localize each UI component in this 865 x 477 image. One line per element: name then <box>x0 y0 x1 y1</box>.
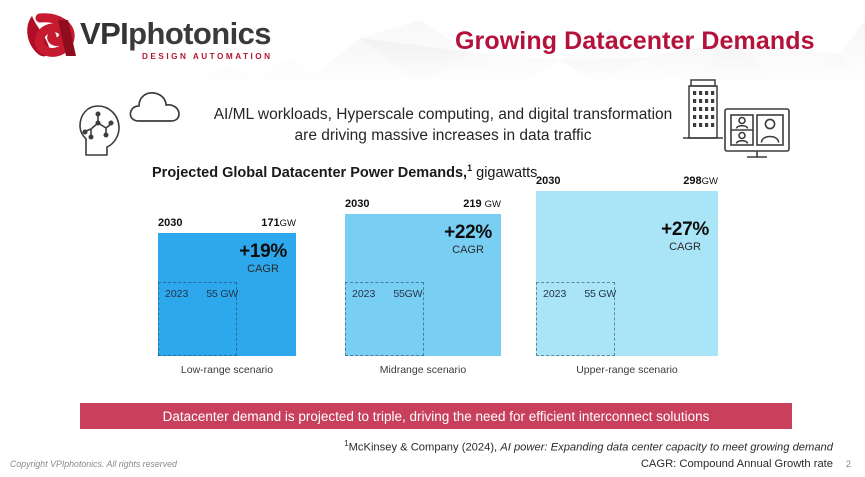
cagr-annotation: +27% CAGR <box>661 219 709 254</box>
cagr-annotation: +22% CAGR <box>444 222 492 257</box>
scenario-low-range: 2030 171GW +19% CAGR 2023 55 GW Low-rang… <box>158 178 296 393</box>
footnote-source-title: AI power: Expanding data center capacity… <box>500 442 833 454</box>
square-value-label: 171GW <box>261 217 296 229</box>
baseline-labels: 2023 55 GW <box>165 288 282 300</box>
square-year-label: 2030 <box>158 217 182 229</box>
logo-tagline: DESIGN AUTOMATION <box>142 52 273 61</box>
cagr-word: CAGR <box>444 244 492 257</box>
scenario-caption: Midrange scenario <box>345 364 501 376</box>
square-top-labels: 2030 171GW <box>158 214 296 229</box>
brand-logo: VPIphotonics DESIGN AUTOMATION <box>18 8 268 70</box>
slide-root: VPIphotonics DESIGN AUTOMATION Growing D… <box>0 0 865 477</box>
square-value-label: 298GW <box>683 175 718 187</box>
footnotes: 1McKinsey & Company (2024), AI power: Ex… <box>233 436 833 472</box>
copyright-notice: Copyright VPIphotonics. All rights reser… <box>10 459 177 469</box>
scenario-chart: 2030 171GW +19% CAGR 2023 55 GW Low-rang… <box>140 178 740 393</box>
square-value-label: 219 GW <box>463 198 501 210</box>
baseline-year-label: 2023 <box>352 288 375 300</box>
footnote-source: 1McKinsey & Company (2024), AI power: Ex… <box>233 436 833 456</box>
baseline-square: 2023 55GW <box>345 282 424 356</box>
cagr-percent: +27% <box>661 219 709 241</box>
square-value-number: 171 <box>261 217 279 229</box>
callout-banner-text: Datacenter demand is projected to triple… <box>163 409 710 424</box>
footnote-source-prefix: McKinsey & Company (2024), <box>349 442 501 454</box>
logo-wordmark: VPIphotonics <box>80 16 271 52</box>
page-number: 2 <box>846 459 851 470</box>
projection-square: +19% CAGR 2023 55 GW <box>158 233 296 356</box>
logo-wordmark-vpi: VPI <box>80 16 128 51</box>
footnote-abbreviation: CAGR: Compound Annual Growth rate <box>233 456 833 472</box>
projection-square: +22% CAGR 2023 55GW <box>345 214 501 356</box>
office-building-icon <box>680 78 726 149</box>
square-value-unit: GW <box>485 199 501 210</box>
square-value-unit: GW <box>280 218 296 229</box>
baseline-year-label: 2023 <box>165 288 188 300</box>
baseline-labels: 2023 55 GW <box>543 288 660 300</box>
baseline-value-label: 55 GW <box>584 288 616 300</box>
ai-brain-head-icon <box>78 103 124 164</box>
cagr-word: CAGR <box>661 241 709 254</box>
square-top-labels: 2030 219 GW <box>345 195 501 210</box>
cagr-annotation: +19% CAGR <box>239 241 287 276</box>
baseline-labels: 2023 55GW <box>352 288 469 300</box>
square-year-label: 2030 <box>345 198 369 210</box>
cagr-word: CAGR <box>239 263 287 276</box>
square-value-number: 219 <box>463 198 481 210</box>
baseline-value-label: 55 GW <box>206 288 238 300</box>
scenario-upper-range: 2030 298GW +27% CAGR 2023 55 GW Upper-ra… <box>536 178 718 393</box>
projection-square: +27% CAGR 2023 55 GW <box>536 191 718 356</box>
scenario-midrange: 2030 219 GW +22% CAGR 2023 55GW Midrange… <box>345 178 501 393</box>
baseline-square: 2023 55 GW <box>158 282 237 356</box>
scenario-caption: Upper-range scenario <box>536 364 718 376</box>
video-conference-icon <box>723 107 791 166</box>
square-year-label: 2030 <box>536 175 560 187</box>
cloud-icon <box>127 90 183 129</box>
page-title: Growing Datacenter Demands <box>455 27 855 56</box>
baseline-square: 2023 55 GW <box>536 282 615 356</box>
square-value-number: 298 <box>683 175 701 187</box>
cagr-percent: +19% <box>239 241 287 263</box>
scenario-caption: Low-range scenario <box>158 364 296 376</box>
chart-title-superscript: 1 <box>467 163 472 173</box>
square-top-labels: 2030 298GW <box>536 172 718 187</box>
intro-statement: AI/ML workloads, Hyperscale computing, a… <box>208 104 678 146</box>
callout-banner: Datacenter demand is projected to triple… <box>80 403 792 429</box>
cagr-percent: +22% <box>444 222 492 244</box>
square-value-unit: GW <box>702 176 718 187</box>
logo-wordmark-photonics: photonics <box>128 16 271 51</box>
baseline-value-label: 55GW <box>393 288 422 300</box>
baseline-year-label: 2023 <box>543 288 566 300</box>
